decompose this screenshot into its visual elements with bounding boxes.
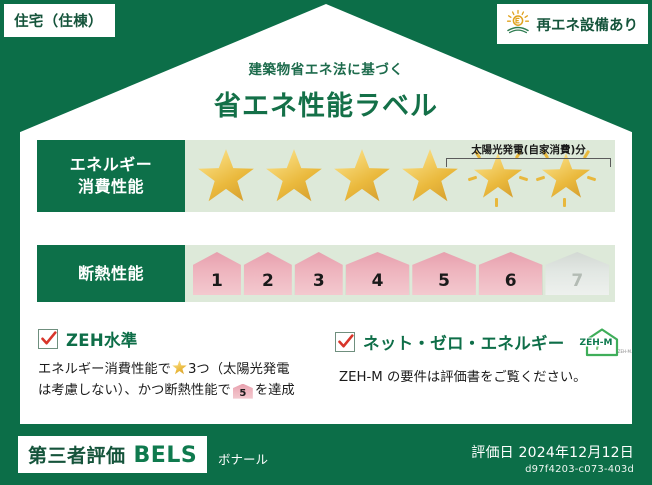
inline-star-icon xyxy=(172,360,187,375)
title-subtitle: 建築物省エネ法に基づく xyxy=(0,58,652,78)
bels-certification-box: 第三者評価 BELS xyxy=(18,436,207,473)
building-type-tag: 住宅（住棟） xyxy=(4,4,115,37)
star-filled-1 xyxy=(193,144,259,208)
energy-performance-label: エネルギー 消費性能 xyxy=(37,140,185,212)
insulation-level-1: 1 xyxy=(193,252,241,295)
insulation-level-scale: 1 2 3 4 5 6 7 xyxy=(193,245,609,302)
zeh-standard-header: ZEH水準 xyxy=(38,327,328,351)
net-zero-energy-section: ネット・ゼロ・エネルギー ZEH-M ZEH-M. ZEH-M の要件は評価書を… xyxy=(335,327,625,389)
zeh-desc-part1: エネルギー消費性能で xyxy=(38,362,171,377)
bels-label: BELS xyxy=(134,443,198,468)
renewable-equipment-badge: 再エネ設備あり xyxy=(497,4,649,44)
solar-annotation: 太陽光発電(自家消費)分 xyxy=(446,142,611,167)
owner-name: ボナール xyxy=(218,449,268,468)
solar-bracket xyxy=(446,158,611,167)
insulation-level-3: 3 xyxy=(295,252,343,295)
evaluation-date: 評価日 2024年12月12日 xyxy=(471,442,634,462)
svg-text:ZEH-M: ZEH-M xyxy=(579,338,612,348)
sun-icon xyxy=(505,9,531,39)
insulation-level-5: 5 xyxy=(412,252,476,295)
insulation-performance-body: 1 2 3 4 5 6 7 xyxy=(185,245,615,302)
net-zero-energy-checkbox[interactable] xyxy=(335,332,355,352)
third-party-label: 第三者評価 xyxy=(28,441,126,468)
svg-text:ZEH-M.: ZEH-M. xyxy=(617,349,631,354)
net-zero-energy-description: ZEH-M の要件は評価書をご覧ください。 xyxy=(339,368,625,389)
zeh-m-logo-icon: ZEH-M ZEH-M. xyxy=(575,327,633,357)
insulation-level-6: 6 xyxy=(479,252,543,295)
renewable-badge-label: 再エネ設備あり xyxy=(537,14,639,35)
zeh-desc-part2: は考慮しない）、かつ断熱性能で xyxy=(38,383,231,398)
zeh-desc-part3: を達成 xyxy=(255,383,295,398)
zeh-desc-star-count: 3つ（太陽光発電 xyxy=(188,362,290,377)
evaluation-id: d97f4203-c073-403d xyxy=(471,464,634,475)
insulation-performance-label: 断熱性能 xyxy=(37,245,185,302)
zeh-standard-title: ZEH水準 xyxy=(66,327,138,351)
net-zero-energy-header: ネット・ゼロ・エネルギー ZEH-M ZEH-M. xyxy=(335,327,625,357)
insulation-performance-row: 断熱性能 1 2 3 4 5 6 7 xyxy=(37,245,615,302)
insulation-level-2: 2 xyxy=(244,252,292,295)
insulation-level-7: 7 xyxy=(545,252,609,295)
title-block: 建築物省エネ法に基づく 省エネ性能ラベル xyxy=(0,58,652,123)
energy-performance-row: エネルギー 消費性能 太陽光発電(自家消費)分 xyxy=(37,140,615,212)
footer-bar: 第三者評価 BELS ボナール 評価日 2024年12月12日 d97f4203… xyxy=(0,423,652,485)
energy-performance-body: 太陽光発電(自家消費)分 xyxy=(185,140,615,212)
building-type-label: 住宅（住棟） xyxy=(14,14,103,30)
star-filled-2 xyxy=(261,144,327,208)
insulation-level-4: 4 xyxy=(346,252,410,295)
net-zero-energy-title: ネット・ゼロ・エネルギー xyxy=(363,330,565,354)
star-filled-3 xyxy=(329,144,395,208)
evaluation-info: 評価日 2024年12月12日 d97f4203-c073-403d xyxy=(471,442,634,475)
label-card: 住宅（住棟） 再エネ設備あり 建築 xyxy=(0,0,652,485)
zeh-standard-checkbox[interactable] xyxy=(38,329,58,349)
zeh-standard-section: ZEH水準 エネルギー消費性能で3つ（太陽光発電 は考慮しない）、かつ断熱性能で… xyxy=(38,327,328,401)
inline-house-icon: 5 xyxy=(233,384,253,399)
page-title: 省エネ性能ラベル xyxy=(0,84,652,123)
solar-annotation-label: 太陽光発電(自家消費)分 xyxy=(446,142,611,157)
zeh-standard-description: エネルギー消費性能で3つ（太陽光発電 は考慮しない）、かつ断熱性能で5を達成 xyxy=(38,360,328,401)
